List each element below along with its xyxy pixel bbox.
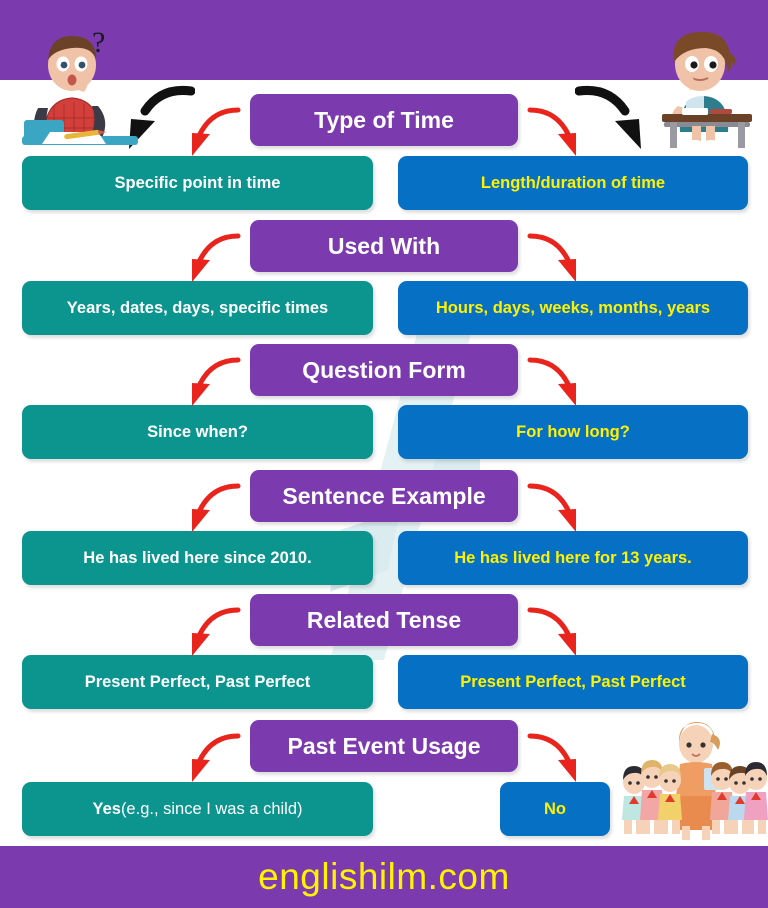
row-label-2: Question Form: [250, 344, 518, 396]
row-values-5: Yes (e.g., since I was a child) No: [0, 782, 768, 836]
large-curved-arrow-down-right-icon: [575, 85, 655, 153]
since-cell-4: Present Perfect, Past Perfect: [22, 655, 373, 709]
since-cell-3: He has lived here since 2010.: [22, 531, 373, 585]
row-values-1: Years, dates, days, specific times Hours…: [0, 281, 768, 335]
row-values-0: Specific point in time Length/duration o…: [0, 156, 768, 210]
row-label-4: Related Tense: [250, 594, 518, 646]
large-curved-arrow-down-left-icon: [115, 85, 195, 153]
since-cell-5-soft: (e.g., since I was a child): [121, 800, 303, 819]
row-label-1: Used With: [250, 220, 518, 272]
since-cell-5-strong: Yes: [92, 800, 120, 819]
curved-arrow-down-left-icon: [180, 354, 242, 410]
row-values-2: Since when? For how long?: [0, 405, 768, 459]
curved-arrow-down-left-icon: [180, 104, 242, 160]
row-values-3: He has lived here since 2010. He has liv…: [0, 531, 768, 585]
for-cell-2: For how long?: [398, 405, 748, 459]
since-cell-0: Specific point in time: [22, 156, 373, 210]
for-cell-5: No: [500, 782, 610, 836]
curved-arrow-down-left-icon: [180, 480, 242, 536]
curved-arrow-down-right-icon: [526, 354, 588, 410]
curved-arrow-down-left-icon: [180, 730, 242, 786]
website-url: englishilm.com: [258, 856, 510, 898]
for-cell-1: Hours, days, weeks, months, years: [398, 281, 748, 335]
row-label-0: Type of Time: [250, 94, 518, 146]
curved-arrow-down-right-icon: [526, 730, 588, 786]
curved-arrow-down-left-icon: [180, 604, 242, 660]
row-label-3: Sentence Example: [250, 470, 518, 522]
for-cell-4: Present Perfect, Past Perfect: [398, 655, 748, 709]
curved-arrow-down-right-icon: [526, 480, 588, 536]
comparison-table: Type of Time Specific point in time Leng…: [0, 80, 768, 846]
curved-arrow-down-right-icon: [526, 104, 588, 160]
for-cell-0: Length/duration of time: [398, 156, 748, 210]
since-cell-2: Since when?: [22, 405, 373, 459]
row-label-5: Past Event Usage: [250, 720, 518, 772]
curved-arrow-down-right-icon: [526, 230, 588, 286]
row-values-4: Present Perfect, Past Perfect Present Pe…: [0, 655, 768, 709]
for-cell-3: He has lived here for 13 years.: [398, 531, 748, 585]
since-cell-5: Yes (e.g., since I was a child): [22, 782, 373, 836]
curved-arrow-down-left-icon: [180, 230, 242, 286]
footer-bar: englishilm.com: [0, 846, 768, 908]
header-bar: [0, 0, 768, 80]
curved-arrow-down-right-icon: [526, 604, 588, 660]
since-cell-1: Years, dates, days, specific times: [22, 281, 373, 335]
